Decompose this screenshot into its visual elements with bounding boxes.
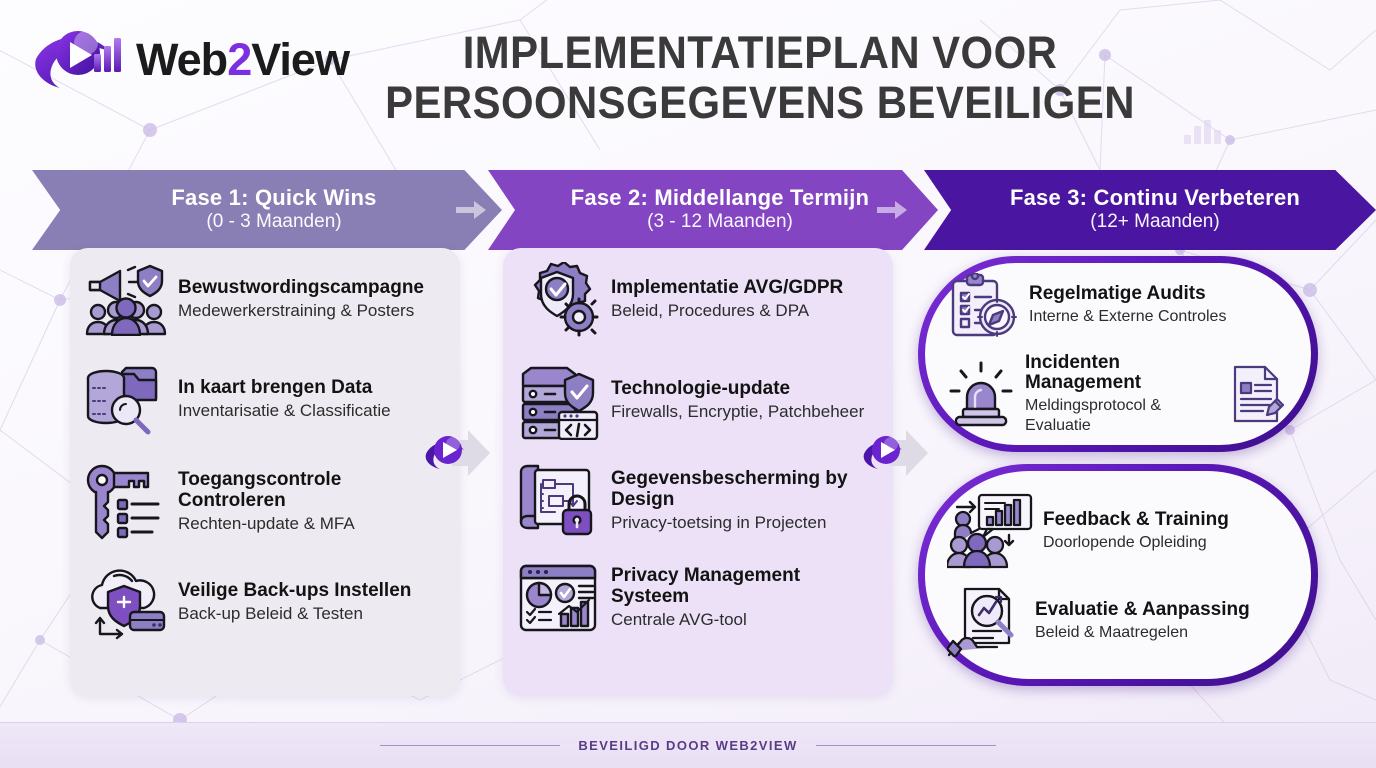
phase-transition-arrow-icon [456,200,486,220]
item-subtitle: Interne & Externe Controles [1029,307,1285,327]
eye-arrow-connector-icon [862,426,932,480]
item-subtitle: Meldingsprotocol & Evaluatie [1025,396,1219,435]
footer-rule-left [380,745,560,746]
phase-3-group-bottom: Feedback & Training Doorlopende Opleidin… [918,464,1318,686]
phase-1-panel: Bewustwordingscampagne Medewerkerstraini… [70,248,460,696]
phase-2-title: Fase 2: Middellange Termijn [571,186,869,211]
item-title: Regelmatige Audits [1029,284,1285,305]
phase-transition-arrow-icon [877,200,907,220]
brand-name-part2: View [251,34,349,85]
brand-name-part1: Web [136,34,227,85]
item-title: Technologie-update [611,379,877,400]
item-subtitle: Privacy-toetsing in Projecten [611,513,877,534]
list-item[interactable]: Veilige Back-ups Instellen Back-up Belei… [84,566,444,640]
gear-shield-check-icon [517,262,601,338]
hand-document-magnifier-icon [947,585,1025,657]
header: Web2View IMPLEMENTATIEPLAN VOOR PERSOONS… [0,0,1376,158]
phase-banner-3[interactable]: Fase 3: Continu Verbeteren (12+ Maanden) [924,170,1376,250]
item-subtitle: Firewalls, Encryptie, Patchbeheer [611,402,877,423]
list-item[interactable]: Incidenten Management Meldingsprotocol &… [947,353,1285,436]
key-checklist-icon [84,464,168,540]
footer-text: BEVEILIGD DOOR WEB2VIEW [578,738,797,753]
item-title: Evaluatie & Aanpassing [1035,600,1285,621]
item-subtitle: Doorlopende Opleiding [1043,533,1285,553]
cloud-shield-drive-icon [84,566,168,640]
phase-3-subtitle: (12+ Maanden) [1090,211,1219,234]
server-shield-code-icon [517,362,601,440]
phase-1-subtitle: (0 - 3 Maanden) [206,211,341,234]
footer: BEVEILIGD DOOR WEB2VIEW [0,722,1376,768]
page-title: IMPLEMENTATIEPLAN VOOR PERSOONSGEGEVENS … [340,28,1180,129]
brand-logo[interactable]: Web2View [30,26,349,92]
list-item[interactable]: Privacy Management Systeem Centrale AVG-… [517,562,877,634]
dashboard-chart-icon [517,562,601,634]
item-title: Gegevensbescherming by Design [611,469,877,511]
page-title-line2: PERSOONSGEGEVENS BEVEILIGEN [369,78,1150,128]
eye-play-chart-logo-icon [30,26,126,92]
list-item[interactable]: Technologie-update Firewalls, Encryptie,… [517,362,877,440]
item-subtitle: Medewerkerstraining & Posters [178,301,444,322]
item-title: Feedback & Training [1043,510,1285,531]
list-item[interactable]: Feedback & Training Doorlopende Opleidin… [947,493,1285,569]
clipboard-compass-icon [947,273,1019,339]
item-title: Incidenten Management [1025,353,1219,395]
phase-2-subtitle: (3 - 12 Maanden) [647,211,793,234]
document-pencil-icon [1229,363,1285,425]
infographic-canvas: Web2View IMPLEMENTATIEPLAN VOOR PERSOONS… [0,0,1376,768]
item-subtitle: Back-up Beleid & Testen [178,604,444,625]
list-item[interactable]: Regelmatige Audits Interne & Externe Con… [947,273,1285,339]
phase-banner-1[interactable]: Fase 1: Quick Wins (0 - 3 Maanden) [32,170,502,250]
item-subtitle: Beleid, Procedures & DPA [611,301,877,322]
item-title: Bewustwordingscampagne [178,278,444,299]
database-folder-magnifier-icon [84,362,168,438]
phase-3-title: Fase 3: Continu Verbeteren [1010,186,1300,211]
item-title: Toegangscontrole Controleren [178,470,444,512]
item-subtitle: Centrale AVG-tool [611,610,877,631]
phase-3-panel: Regelmatige Audits Interne & Externe Con… [918,248,1318,696]
item-subtitle: Inventarisatie & Classificatie [178,401,444,422]
list-item[interactable]: Gegevensbescherming by Design Privacy-to… [517,464,877,538]
footer-rule-right [816,745,996,746]
phase-3-group-top: Regelmatige Audits Interne & Externe Con… [918,256,1318,452]
item-title: Veilige Back-ups Instellen [178,581,444,602]
siren-icon [947,361,1015,427]
item-title: In kaart brengen Data [178,378,444,399]
trainer-audience-chart-icon [947,493,1033,569]
brand-wordmark: Web2View [136,37,349,82]
item-title: Privacy Management Systeem [611,566,877,608]
list-item[interactable]: Evaluatie & Aanpassing Beleid & Maatrege… [947,585,1285,657]
item-title: Implementatie AVG/GDPR [611,278,877,299]
eye-arrow-connector-icon [424,426,494,480]
phase-2-panel: Implementatie AVG/GDPR Beleid, Procedure… [503,248,893,696]
list-item[interactable]: Bewustwordingscampagne Medewerkerstraini… [84,264,444,336]
item-subtitle: Beleid & Maatregelen [1035,623,1285,643]
phase-banner-2[interactable]: Fase 2: Middellange Termijn (3 - 12 Maan… [488,170,938,250]
megaphone-shield-people-icon [84,264,168,336]
phase-1-title: Fase 1: Quick Wins [171,186,376,211]
brand-name-digit: 2 [227,34,251,85]
list-item[interactable]: Implementatie AVG/GDPR Beleid, Procedure… [517,262,877,338]
blueprint-lock-icon [517,464,601,538]
item-subtitle: Rechten-update & MFA [178,514,444,535]
page-title-line1: IMPLEMENTATIEPLAN VOOR [369,28,1150,78]
list-item[interactable]: Toegangscontrole Controleren Rechten-upd… [84,464,444,540]
list-item[interactable]: In kaart brengen Data Inventarisatie & C… [84,362,444,438]
